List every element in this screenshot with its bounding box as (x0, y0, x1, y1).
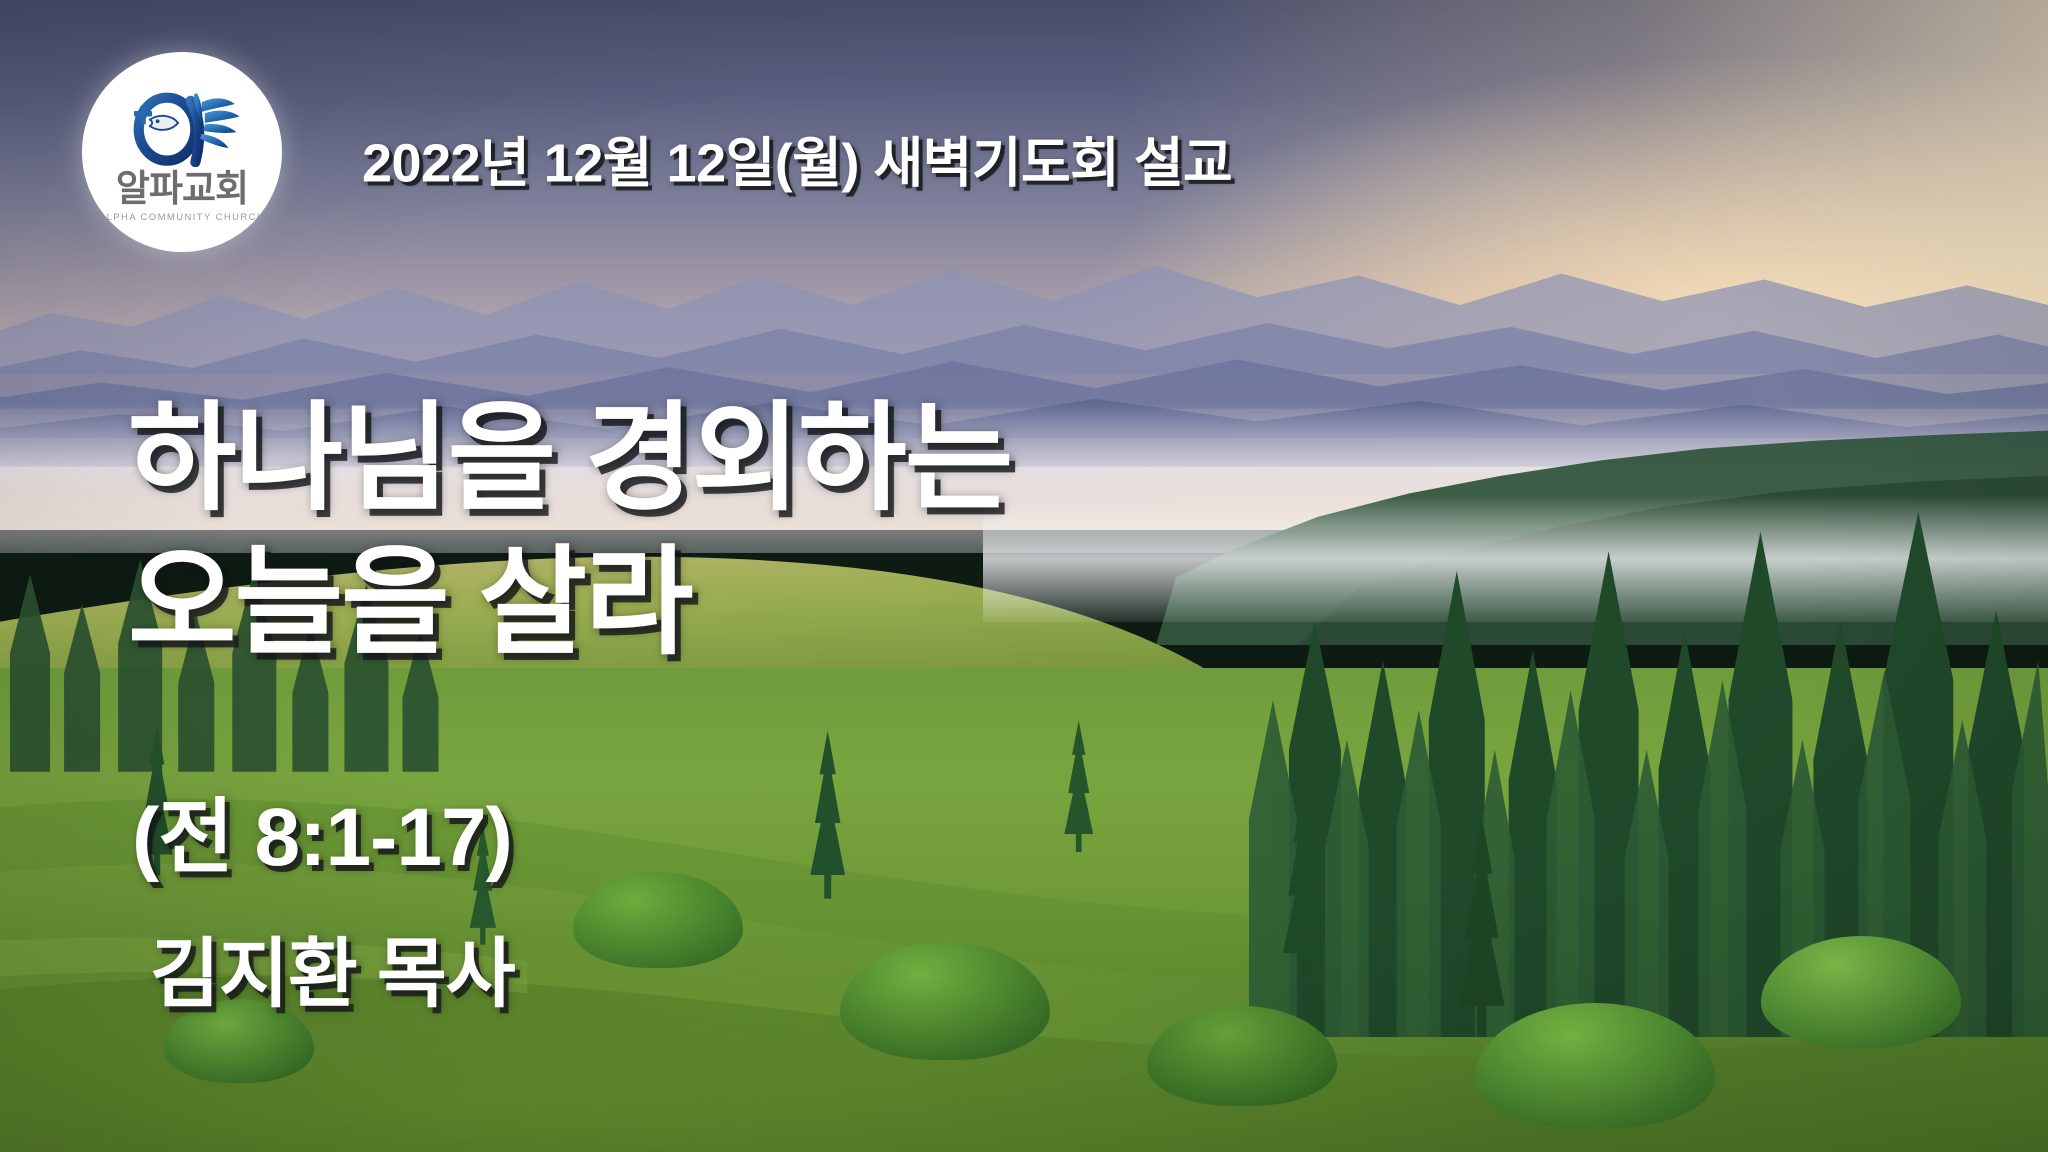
sermon-title-line-2: 오늘을 살라 (128, 532, 1308, 676)
church-logo: 알파교회 ALPHA COMMUNITY CHURCH (82, 52, 282, 252)
sermon-title: 하나님을 경외하는 오늘을 살라 (128, 388, 1308, 676)
header-date-line: 2022년 12월 12일(월) 새벽기도회 설교 (362, 119, 1232, 198)
alpha-fish-cross-icon (123, 85, 241, 167)
speaker-name: 김지환 목사 (150, 912, 515, 1022)
sermon-title-slide: 알파교회 ALPHA COMMUNITY CHURCH 2022년 12월 12… (0, 0, 2048, 1152)
sermon-title-line-1: 하나님을 경외하는 (128, 388, 1308, 532)
logo-name-english: ALPHA COMMUNITY CHURCH (99, 212, 265, 223)
scripture-reference: (전 8:1-17) (132, 770, 512, 889)
logo-name-korean: 알파교회 (116, 170, 248, 207)
